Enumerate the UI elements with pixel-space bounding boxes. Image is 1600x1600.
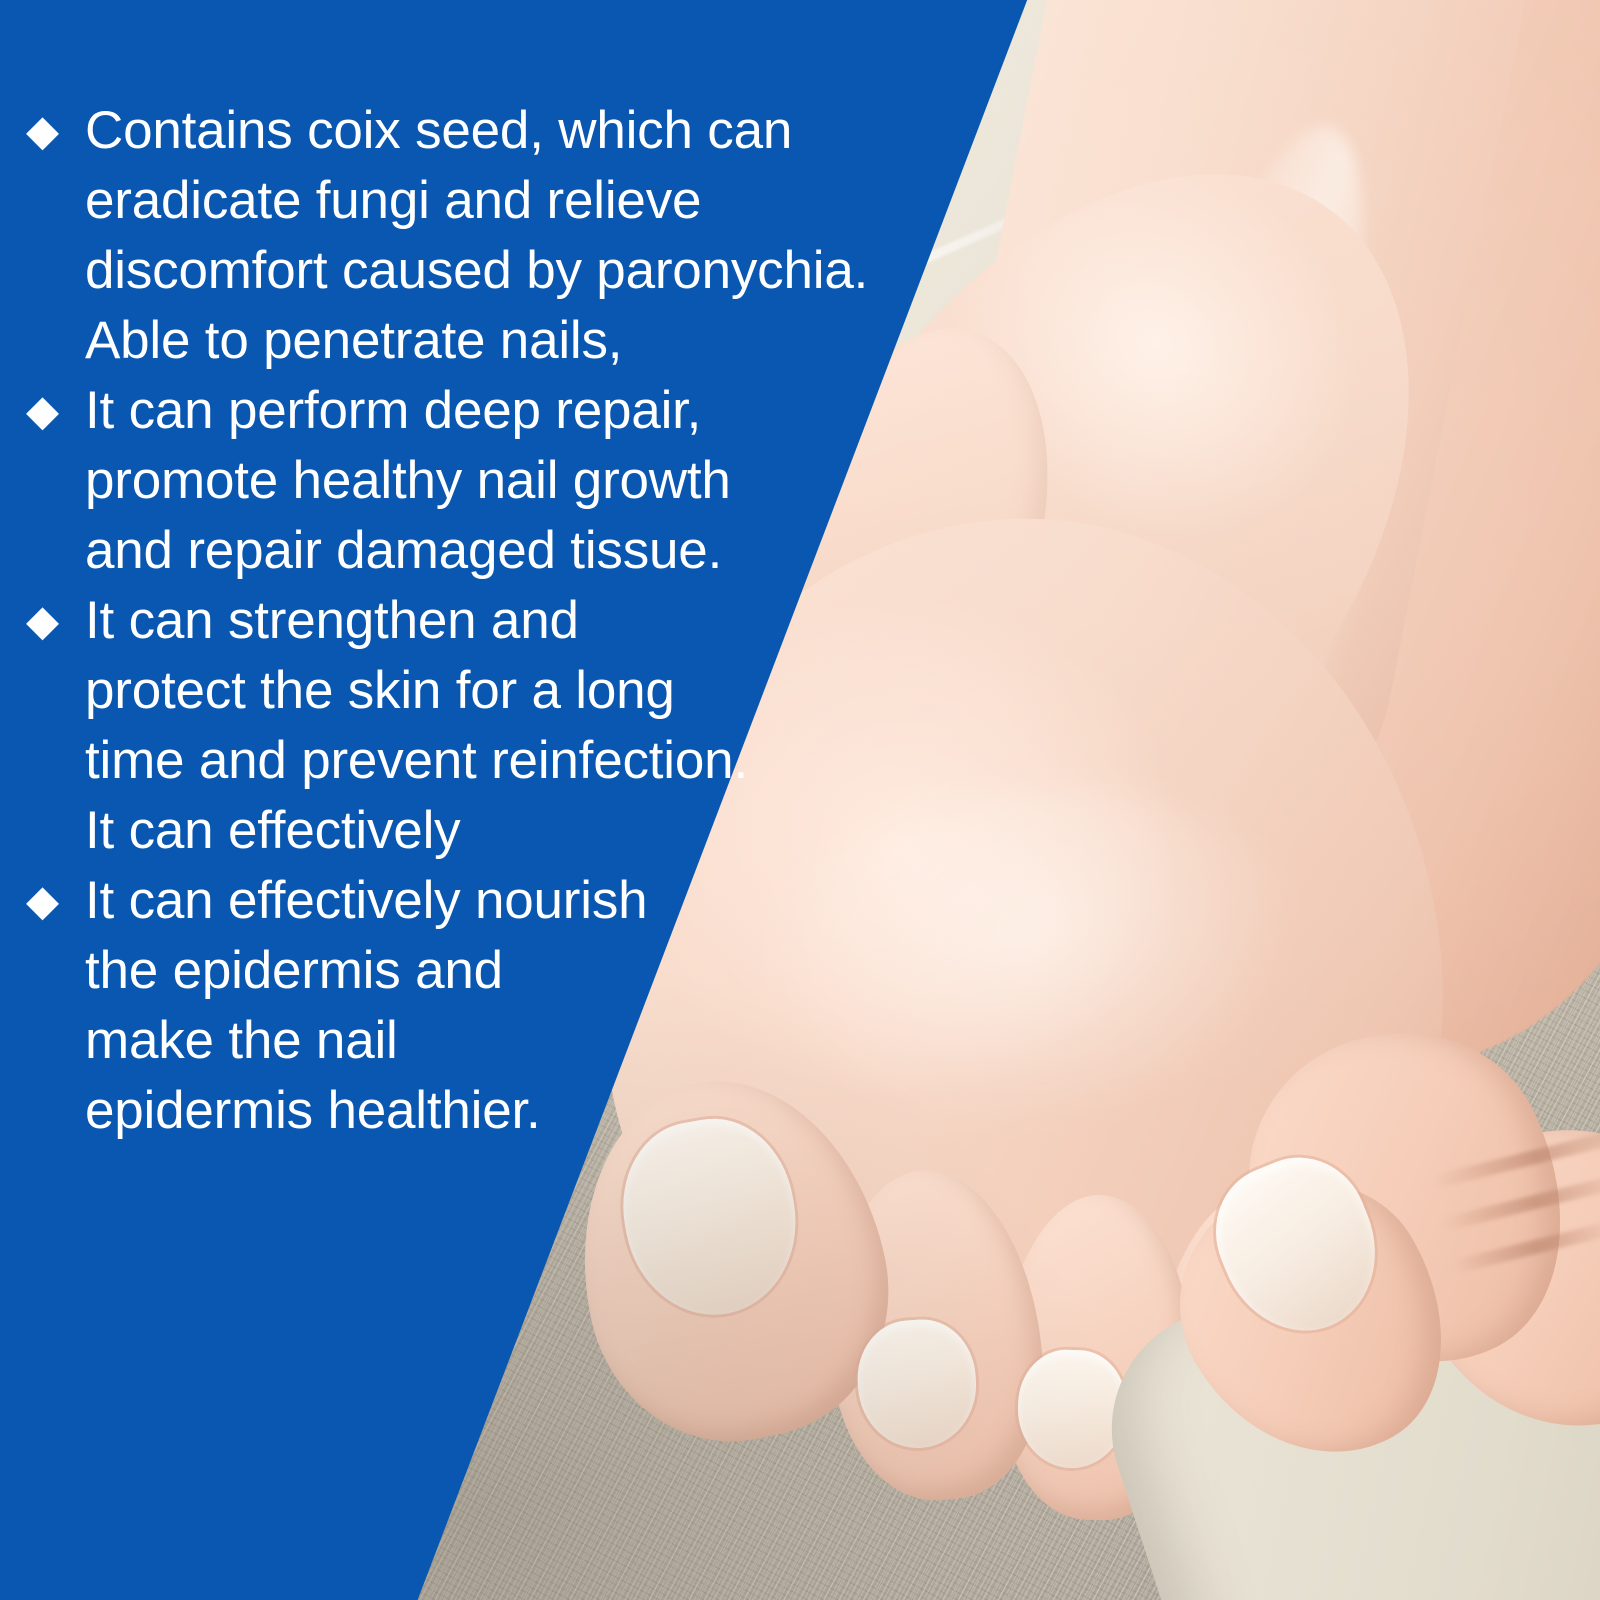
diamond-bullet-icon: ◆ (26, 866, 85, 936)
diamond-bullet-icon: ◆ (26, 96, 85, 166)
diamond-bullet-icon: ◆ (26, 376, 85, 446)
diamond-bullet-icon: ◆ (26, 586, 85, 656)
feature-bullet-list: ◆ Contains coix seed, which can eradicat… (26, 96, 886, 1146)
promo-banner: ◆ Contains coix seed, which can eradicat… (0, 0, 1600, 1600)
list-item-text: Contains coix seed, which can eradicate … (85, 96, 886, 376)
list-item: ◆ Contains coix seed, which can eradicat… (26, 96, 886, 376)
list-item-text: It can perform deep repair, promote heal… (85, 376, 886, 586)
list-item-text: It can strengthen and protect the skin f… (85, 586, 886, 866)
list-item-text: It can effectively nourish the epidermis… (85, 866, 886, 1146)
list-item: ◆ It can effectively nourish the epiderm… (26, 866, 886, 1146)
list-item: ◆ It can strengthen and protect the skin… (26, 586, 886, 866)
list-item: ◆ It can perform deep repair, promote he… (26, 376, 886, 586)
